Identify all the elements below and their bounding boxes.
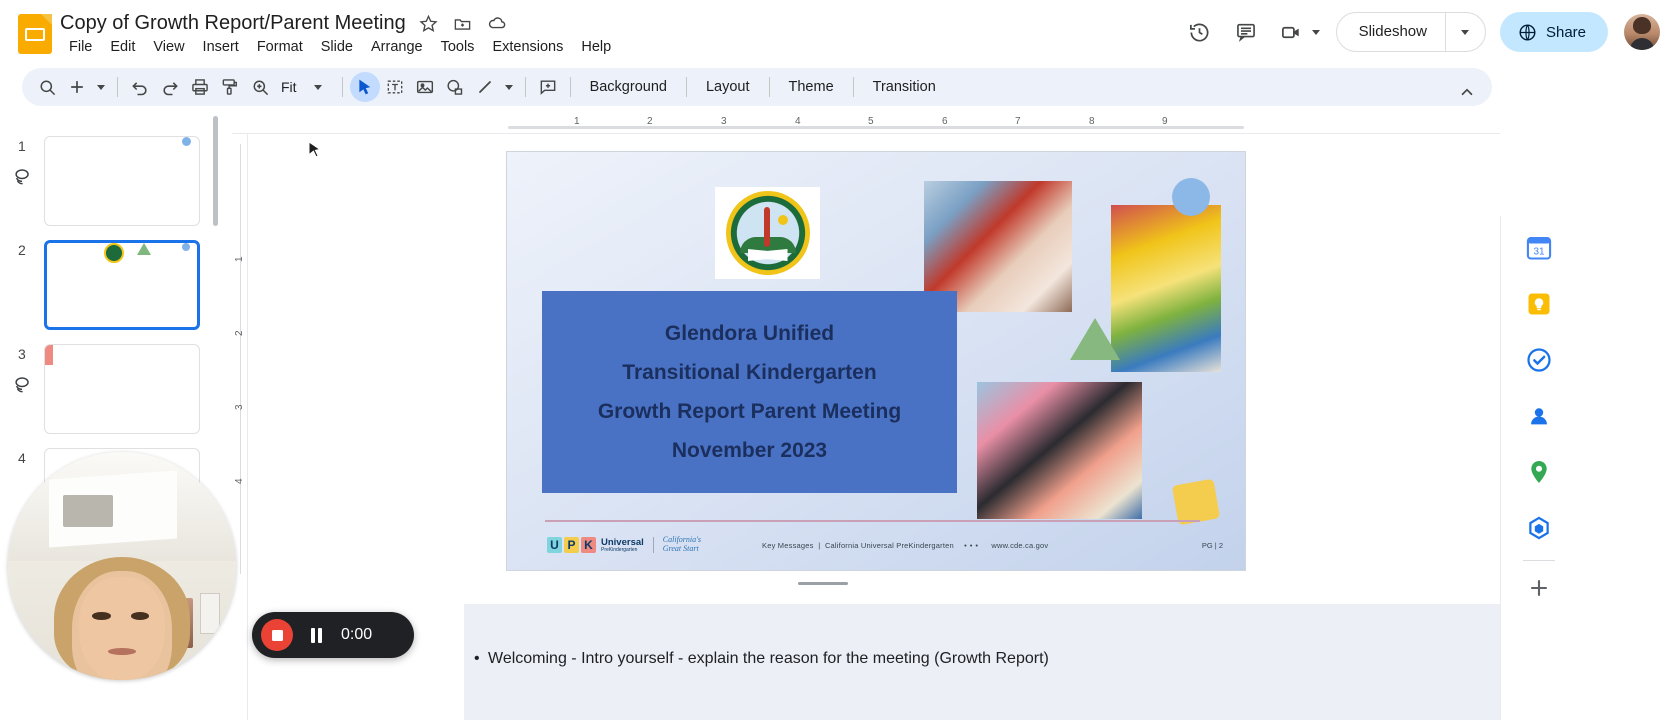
- slide-title-textbox[interactable]: Glendora Unified Transitional Kindergart…: [542, 291, 957, 493]
- slide-thumbnail[interactable]: [44, 344, 200, 434]
- editor-body: 1 2 3: [0, 108, 1670, 720]
- top-bar: Copy of Growth Report/Parent Meeting Fil…: [0, 0, 1670, 64]
- add-slide-caret-icon[interactable]: [92, 72, 110, 102]
- svg-text:31: 31: [1533, 247, 1545, 258]
- chevron-up-icon[interactable]: [1452, 77, 1482, 107]
- menu-extensions[interactable]: Extensions: [483, 36, 572, 58]
- video-camera-icon[interactable]: [1272, 12, 1312, 52]
- redo-icon[interactable]: [155, 72, 185, 102]
- toolbar-divider: [853, 77, 854, 97]
- share-label: Share: [1546, 24, 1586, 41]
- video-caret-icon[interactable]: [1312, 30, 1320, 35]
- present-video-group[interactable]: [1272, 12, 1324, 52]
- top-right-actions: Slideshow Share: [1180, 8, 1660, 56]
- filmstrip-slide-3[interactable]: 3: [0, 344, 232, 448]
- google-tasks-icon[interactable]: [1525, 346, 1553, 374]
- ruler-tick: 3: [234, 404, 245, 410]
- share-button[interactable]: Share: [1500, 12, 1608, 52]
- print-icon[interactable]: [185, 72, 215, 102]
- slide-number: 3: [18, 346, 26, 362]
- ruler-tick: 7: [1015, 116, 1021, 127]
- notes-resize-handle[interactable]: [798, 582, 848, 585]
- pause-icon[interactable]: [299, 618, 333, 652]
- cursor-arrow-icon[interactable]: [350, 72, 380, 102]
- zoom-level-caret-icon[interactable]: [301, 72, 335, 102]
- add-on-app-icon[interactable]: [1525, 514, 1553, 542]
- footer-divider: [545, 520, 1200, 522]
- slide-canvas-area[interactable]: 1 2 3 4 5 6 7 8 9 1 2 3 4: [232, 108, 1500, 720]
- ruler-tick: 6: [942, 116, 948, 127]
- slide-number: 2: [18, 242, 26, 258]
- document-title-row: Copy of Growth Report/Parent Meeting: [60, 8, 508, 38]
- ruler-tick: 5: [868, 116, 874, 127]
- add-comment-icon[interactable]: [533, 72, 563, 102]
- transition-button[interactable]: Transition: [861, 73, 948, 101]
- menu-insert[interactable]: Insert: [194, 36, 248, 58]
- green-triangle-decoration[interactable]: [1070, 318, 1120, 360]
- menu-slide[interactable]: Slide: [312, 36, 362, 58]
- title-line-1: Glendora Unified: [665, 322, 834, 346]
- ruler-tick: 9: [1162, 116, 1168, 127]
- footer-dots: •••: [956, 541, 989, 550]
- comment-icon[interactable]: [1226, 12, 1266, 52]
- layout-button[interactable]: Layout: [694, 73, 762, 101]
- ruler-tick: 1: [234, 256, 245, 262]
- undo-icon[interactable]: [125, 72, 155, 102]
- footer-url: www.cde.ca.gov: [991, 541, 1048, 550]
- recording-controls[interactable]: 0:00: [252, 612, 414, 658]
- ruler-tick: 8: [1089, 116, 1095, 127]
- menu-arrange[interactable]: Arrange: [362, 36, 432, 58]
- screen-share-badge-icon: [18, 658, 34, 672]
- photo-children-blocks[interactable]: [1111, 205, 1221, 372]
- yellow-square-decoration[interactable]: [1172, 479, 1220, 526]
- zoom-in-icon[interactable]: [245, 72, 275, 102]
- slide-footer-text: Key Messages | California Universal PreK…: [762, 541, 1048, 550]
- toolbar-divider: [342, 77, 343, 97]
- shape-icon[interactable]: [440, 72, 470, 102]
- upk-letter-p: P: [564, 537, 579, 553]
- vertical-ruler[interactable]: 1 2 3 4: [232, 134, 248, 720]
- recording-timer: 0:00: [341, 626, 372, 644]
- menu-edit[interactable]: Edit: [101, 36, 144, 58]
- plus-icon[interactable]: [1527, 576, 1551, 600]
- footer-key-messages: Key Messages: [762, 541, 814, 550]
- google-calendar-icon[interactable]: 31: [1525, 234, 1553, 262]
- search-icon[interactable]: [32, 72, 62, 102]
- speaker-notes-text[interactable]: Welcoming - Intro yourself - explain the…: [488, 650, 1049, 668]
- background-button[interactable]: Background: [578, 73, 679, 101]
- horizontal-ruler[interactable]: 1 2 3 4 5 6 7 8 9: [232, 108, 1500, 134]
- plus-icon[interactable]: [62, 72, 92, 102]
- menu-view[interactable]: View: [144, 36, 193, 58]
- google-keep-icon[interactable]: [1525, 290, 1553, 318]
- text-box-icon[interactable]: [380, 72, 410, 102]
- toolbar-divider: [117, 77, 118, 97]
- upk-letter-u: U: [547, 537, 562, 553]
- rail-divider: [1523, 560, 1555, 561]
- notes-bullet: •: [474, 650, 480, 668]
- image-icon[interactable]: [410, 72, 440, 102]
- layers-icon: [12, 166, 34, 188]
- page-title[interactable]: Copy of Growth Report/Parent Meeting: [60, 12, 406, 35]
- ruler-tick: 2: [647, 116, 653, 127]
- history-icon[interactable]: [1180, 12, 1220, 52]
- slides-app-window: Copy of Growth Report/Parent Meeting Fil…: [0, 0, 1670, 720]
- menu-file[interactable]: File: [60, 36, 101, 58]
- speaker-notes-pane[interactable]: • Welcoming - Intro yourself - explain t…: [464, 604, 1670, 720]
- slide-page-number: PG | 2: [1202, 541, 1223, 550]
- slides-logo-icon[interactable]: [18, 14, 52, 54]
- photo-three-kids-eating[interactable]: [977, 382, 1142, 519]
- slide-thumbnail[interactable]: [44, 136, 200, 226]
- ruler-tick: 2: [234, 330, 245, 336]
- side-app-rail: 31: [1500, 216, 1670, 720]
- slide-number: 1: [18, 138, 26, 154]
- title-line-2: Transitional Kindergarten: [622, 361, 876, 385]
- zoom-level-label[interactable]: Fit: [275, 79, 301, 95]
- footer-upk-name: California Universal PreKindergarten: [825, 541, 954, 550]
- current-slide[interactable]: Glendora Unified Transitional Kindergart…: [507, 152, 1245, 570]
- upk-logo: U P K Universal PreKindergarten Californ…: [547, 536, 701, 554]
- mouse-cursor: [308, 141, 322, 159]
- toolbar-divider: [686, 77, 687, 97]
- filmstrip-slide-1[interactable]: 1: [0, 136, 232, 240]
- slide-thumbnail[interactable]: [44, 240, 200, 330]
- layers-icon: [12, 374, 34, 396]
- toolbar-divider: [570, 77, 571, 97]
- menu-help[interactable]: Help: [572, 36, 620, 58]
- ruler-tick: 1: [574, 116, 580, 127]
- glendora-unified-school-district-seal[interactable]: [715, 187, 820, 279]
- filmstrip-slide-2[interactable]: 2: [0, 240, 232, 344]
- toolbar-wrapper: Fit Background: [0, 64, 1670, 108]
- line-caret-icon[interactable]: [500, 72, 518, 102]
- upk-letter-k: K: [581, 537, 596, 553]
- presenter-webcam-bubble[interactable]: [8, 452, 236, 680]
- paint-format-icon[interactable]: [215, 72, 245, 102]
- title-line-4: November 2023: [672, 439, 827, 463]
- main-toolbar: Fit Background: [22, 68, 1492, 106]
- menu-tools[interactable]: Tools: [432, 36, 484, 58]
- slideshow-label: Slideshow: [1337, 13, 1445, 51]
- blue-circle-decoration[interactable]: [1172, 178, 1210, 216]
- globe-lock-icon: [1518, 23, 1537, 42]
- toolbar-divider: [525, 77, 526, 97]
- slideshow-button[interactable]: Slideshow: [1336, 12, 1486, 52]
- theme-button[interactable]: Theme: [777, 73, 846, 101]
- upk-word-prekindergarten: PreKindergarten: [601, 548, 644, 553]
- cloud-saved-icon[interactable]: [486, 12, 508, 34]
- line-icon[interactable]: [470, 72, 500, 102]
- menu-bar: File Edit View Insert Format Slide Arran…: [60, 36, 620, 58]
- google-contacts-icon[interactable]: [1525, 402, 1553, 430]
- ruler-tick: 4: [795, 116, 801, 127]
- star-icon[interactable]: [418, 12, 440, 34]
- stop-record-icon[interactable]: [261, 619, 293, 651]
- toolbar-divider: [769, 77, 770, 97]
- title-line-3: Growth Report Parent Meeting: [598, 400, 901, 424]
- menu-format[interactable]: Format: [248, 36, 312, 58]
- slideshow-caret-icon[interactable]: [1445, 13, 1485, 51]
- move-to-folder-icon[interactable]: [452, 12, 474, 34]
- user-avatar[interactable]: [1624, 14, 1660, 50]
- upk-tagline-2: Great Start: [663, 545, 701, 554]
- ruler-tick: 3: [721, 116, 727, 127]
- google-maps-icon[interactable]: [1525, 458, 1553, 486]
